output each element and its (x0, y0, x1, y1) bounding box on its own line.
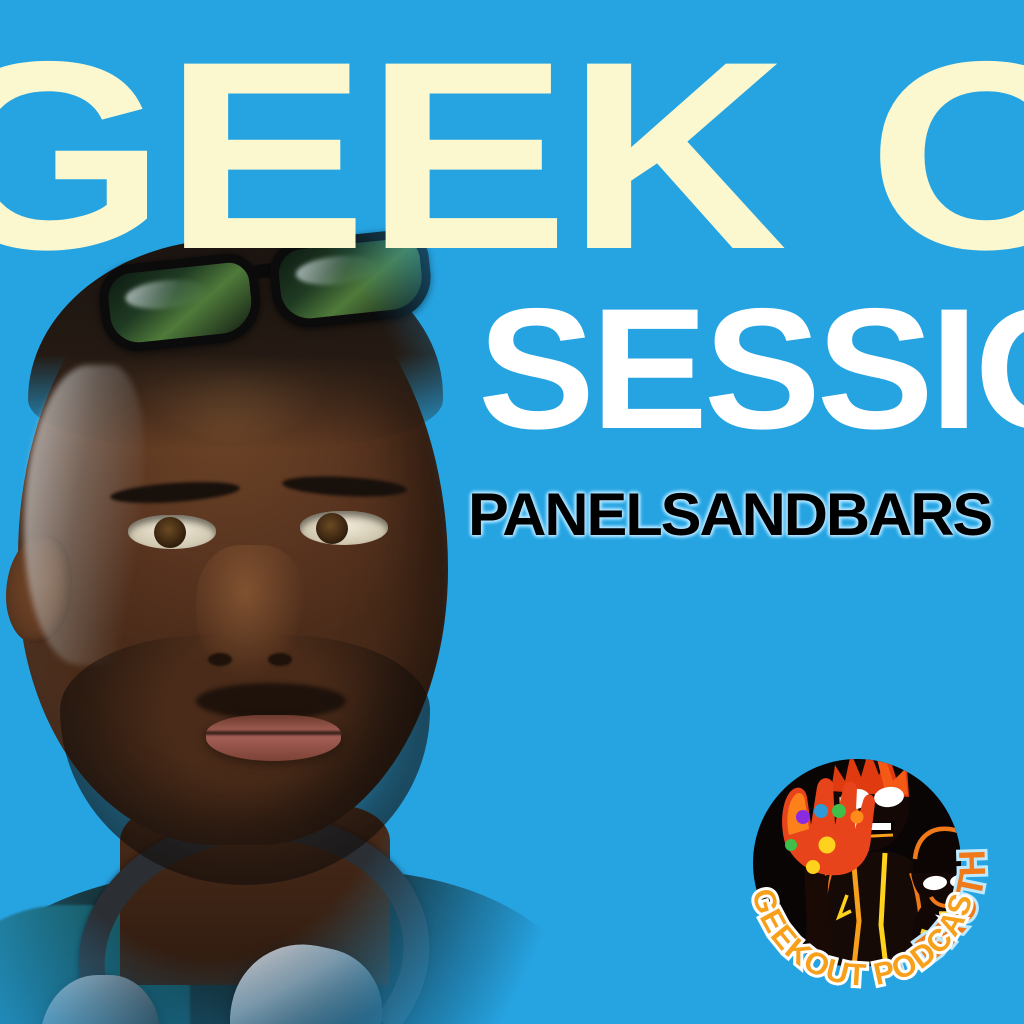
lip-line (204, 731, 344, 735)
eye-left (128, 515, 216, 549)
podcast-cover-poster: GEEK OUT SESSION Panelsandbars (0, 0, 1024, 1024)
eye-right (300, 511, 388, 545)
lips (206, 715, 341, 761)
stone-yellow2 (806, 860, 820, 874)
stone-green2 (785, 839, 797, 851)
stone-blue (814, 804, 828, 818)
nostril-right (268, 653, 292, 666)
nostril-left (208, 653, 232, 666)
iris-right (316, 513, 348, 544)
stone-yellow (819, 837, 836, 854)
the-brothers-geekout-podcast-logo[interactable]: THE THE BROTHERS BROTHERS GEEKOUT PODCAS… (735, 725, 997, 993)
title-panelsandbars: Panelsandbars (468, 463, 991, 549)
stone-purple (796, 810, 810, 824)
title-session: SESSION (478, 283, 1024, 455)
nose (196, 545, 306, 680)
iris-left (154, 517, 186, 548)
stone-orange (851, 811, 864, 824)
title-geek-out: GEEK OUT (0, 30, 1024, 282)
stone-green (832, 804, 846, 818)
moustache (196, 683, 346, 719)
